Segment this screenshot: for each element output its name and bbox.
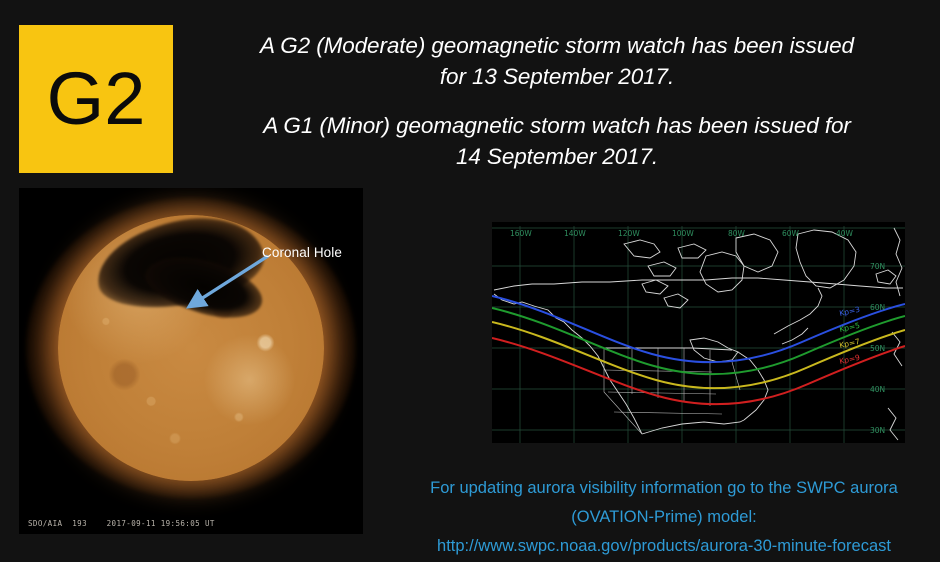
- longitude-label-100w: 100W: [672, 229, 694, 238]
- longitude-label-60w: 60W: [782, 229, 800, 238]
- latitude-label-30n: 30N: [870, 426, 885, 435]
- solar-disk-container: [19, 188, 363, 534]
- longitude-label-40w: 40W: [836, 229, 854, 238]
- longitude-label-140w: 140W: [564, 229, 586, 238]
- latitude-label-70n: 70N: [870, 262, 885, 271]
- headline-line-1: A G2 (Moderate) geomagnetic storm watch …: [186, 30, 928, 61]
- storm-level-badge-label: G2: [47, 62, 146, 136]
- solar-image-caption: SDO/AIA 193 2017-09-11 19:56:05 UT: [28, 519, 215, 528]
- latitude-label-60n: 60N: [870, 303, 885, 312]
- headline-line-3: A G1 (Minor) geomagnetic storm watch has…: [186, 110, 928, 141]
- presentation-slide: G2 A G2 (Moderate) geomagnetic storm wat…: [0, 0, 940, 562]
- storm-level-badge: G2: [19, 25, 173, 173]
- aurora-reference-line-2: (OVATION-Prime) model:: [334, 503, 940, 532]
- aurora-map-graphic: Kp=3 Kp=5 Kp=7 Kp=9 160W 140W 120W 100W …: [492, 222, 905, 443]
- latitude-label-50n: 50N: [870, 344, 885, 353]
- storm-watch-headline: A G2 (Moderate) geomagnetic storm watch …: [186, 30, 928, 172]
- aurora-model-reference: For updating aurora visibility informati…: [334, 474, 940, 561]
- headline-line-2: for 13 September 2017.: [186, 61, 928, 92]
- longitude-label-160w: 160W: [510, 229, 532, 238]
- headline-line-4: 14 September 2017.: [186, 141, 928, 172]
- aurora-forecast-map: Kp=3 Kp=5 Kp=7 Kp=9 160W 140W 120W 100W …: [492, 222, 905, 443]
- longitude-label-80w: 80W: [728, 229, 746, 238]
- solar-image: SDO/AIA 193 2017-09-11 19:56:05 UT: [19, 188, 363, 534]
- coronal-hole-label: Coronal Hole: [262, 245, 342, 260]
- aurora-reference-line-1: For updating aurora visibility informati…: [334, 474, 940, 503]
- latitude-label-40n: 40N: [870, 385, 885, 394]
- aurora-forecast-url[interactable]: http://www.swpc.noaa.gov/products/aurora…: [334, 532, 940, 561]
- longitude-label-120w: 120W: [618, 229, 640, 238]
- headline-paragraph-gap: [186, 92, 928, 110]
